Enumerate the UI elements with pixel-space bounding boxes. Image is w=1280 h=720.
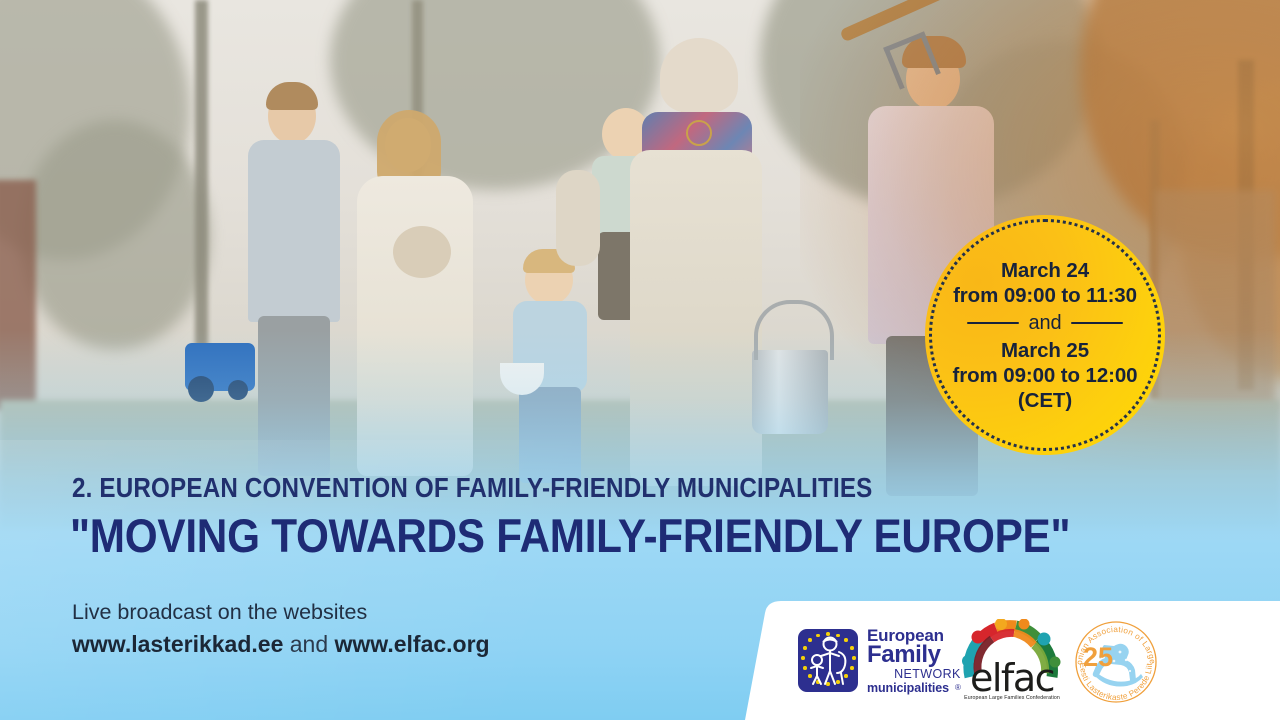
estonian-anniversary-number: 25 bbox=[1083, 642, 1113, 673]
page-title: "MOVING TOWARDS FAMILY-FRIENDLY EUROPE" bbox=[70, 508, 1070, 563]
efn-line-municipalities: municipalities® bbox=[867, 682, 961, 695]
badge-rule-left bbox=[967, 322, 1019, 325]
rabbit bbox=[393, 226, 451, 278]
website-conjunction: and bbox=[283, 631, 334, 657]
website-links: www.lasterikkad.ee and www.elfac.org bbox=[72, 631, 490, 658]
efn-emblem-icon bbox=[798, 629, 858, 692]
efn-line-family: Family bbox=[867, 643, 961, 667]
date-badge: March 24 from 09:00 to 11:30 and March 2… bbox=[925, 215, 1165, 455]
badge-rule-right bbox=[1071, 322, 1123, 325]
necklace bbox=[686, 120, 712, 146]
badge-date-1: March 24 bbox=[930, 258, 1160, 283]
elfac-head-dot bbox=[1038, 633, 1051, 646]
logo-european-family-network: European Family NETWORK municipalities® bbox=[798, 627, 961, 694]
elfac-head-dot bbox=[972, 631, 985, 644]
badge-separator-label: and bbox=[1028, 311, 1061, 336]
logo-row: European Family NETWORK municipalities® bbox=[745, 601, 1280, 720]
logo-elfac: elfac European Large Families Confederat… bbox=[958, 619, 1066, 703]
stuffed-toy bbox=[556, 170, 600, 266]
badge-timezone: (CET) bbox=[930, 388, 1160, 413]
hair bbox=[660, 38, 738, 112]
badge-content: March 24 from 09:00 to 11:30 and March 2… bbox=[930, 258, 1160, 413]
event-kicker: 2. EUROPEAN CONVENTION OF FAMILY-FRIENDL… bbox=[72, 472, 872, 504]
broadcast-label: Live broadcast on the websites bbox=[72, 600, 367, 625]
elfac-tagline: European Large Families Confederation bbox=[958, 695, 1066, 701]
website-link-lasterikkad[interactable]: www.lasterikkad.ee bbox=[72, 631, 283, 657]
logo-estonian-association: NGO Estonian Association of Large Famili… bbox=[1070, 616, 1162, 708]
poster-canvas: March 24 from 09:00 to 11:30 and March 2… bbox=[0, 0, 1280, 720]
website-link-elfac[interactable]: www.elfac.org bbox=[335, 631, 490, 657]
efn-municipalities-text: municipalities bbox=[867, 681, 949, 695]
tree-canopy bbox=[20, 120, 210, 350]
elfac-head-dot bbox=[1019, 619, 1030, 630]
torso bbox=[248, 140, 340, 322]
badge-time-2: from 09:00 to 12:00 bbox=[930, 363, 1160, 388]
elfac-wordmark: elfac bbox=[960, 659, 1064, 697]
badge-separator-row: and bbox=[930, 311, 1160, 336]
badge-date-2: March 25 bbox=[930, 338, 1160, 363]
badge-time-1: from 09:00 to 11:30 bbox=[930, 283, 1160, 308]
efn-line-network: NETWORK bbox=[867, 668, 961, 681]
efn-wordmark: European Family NETWORK municipalities® bbox=[867, 627, 961, 694]
